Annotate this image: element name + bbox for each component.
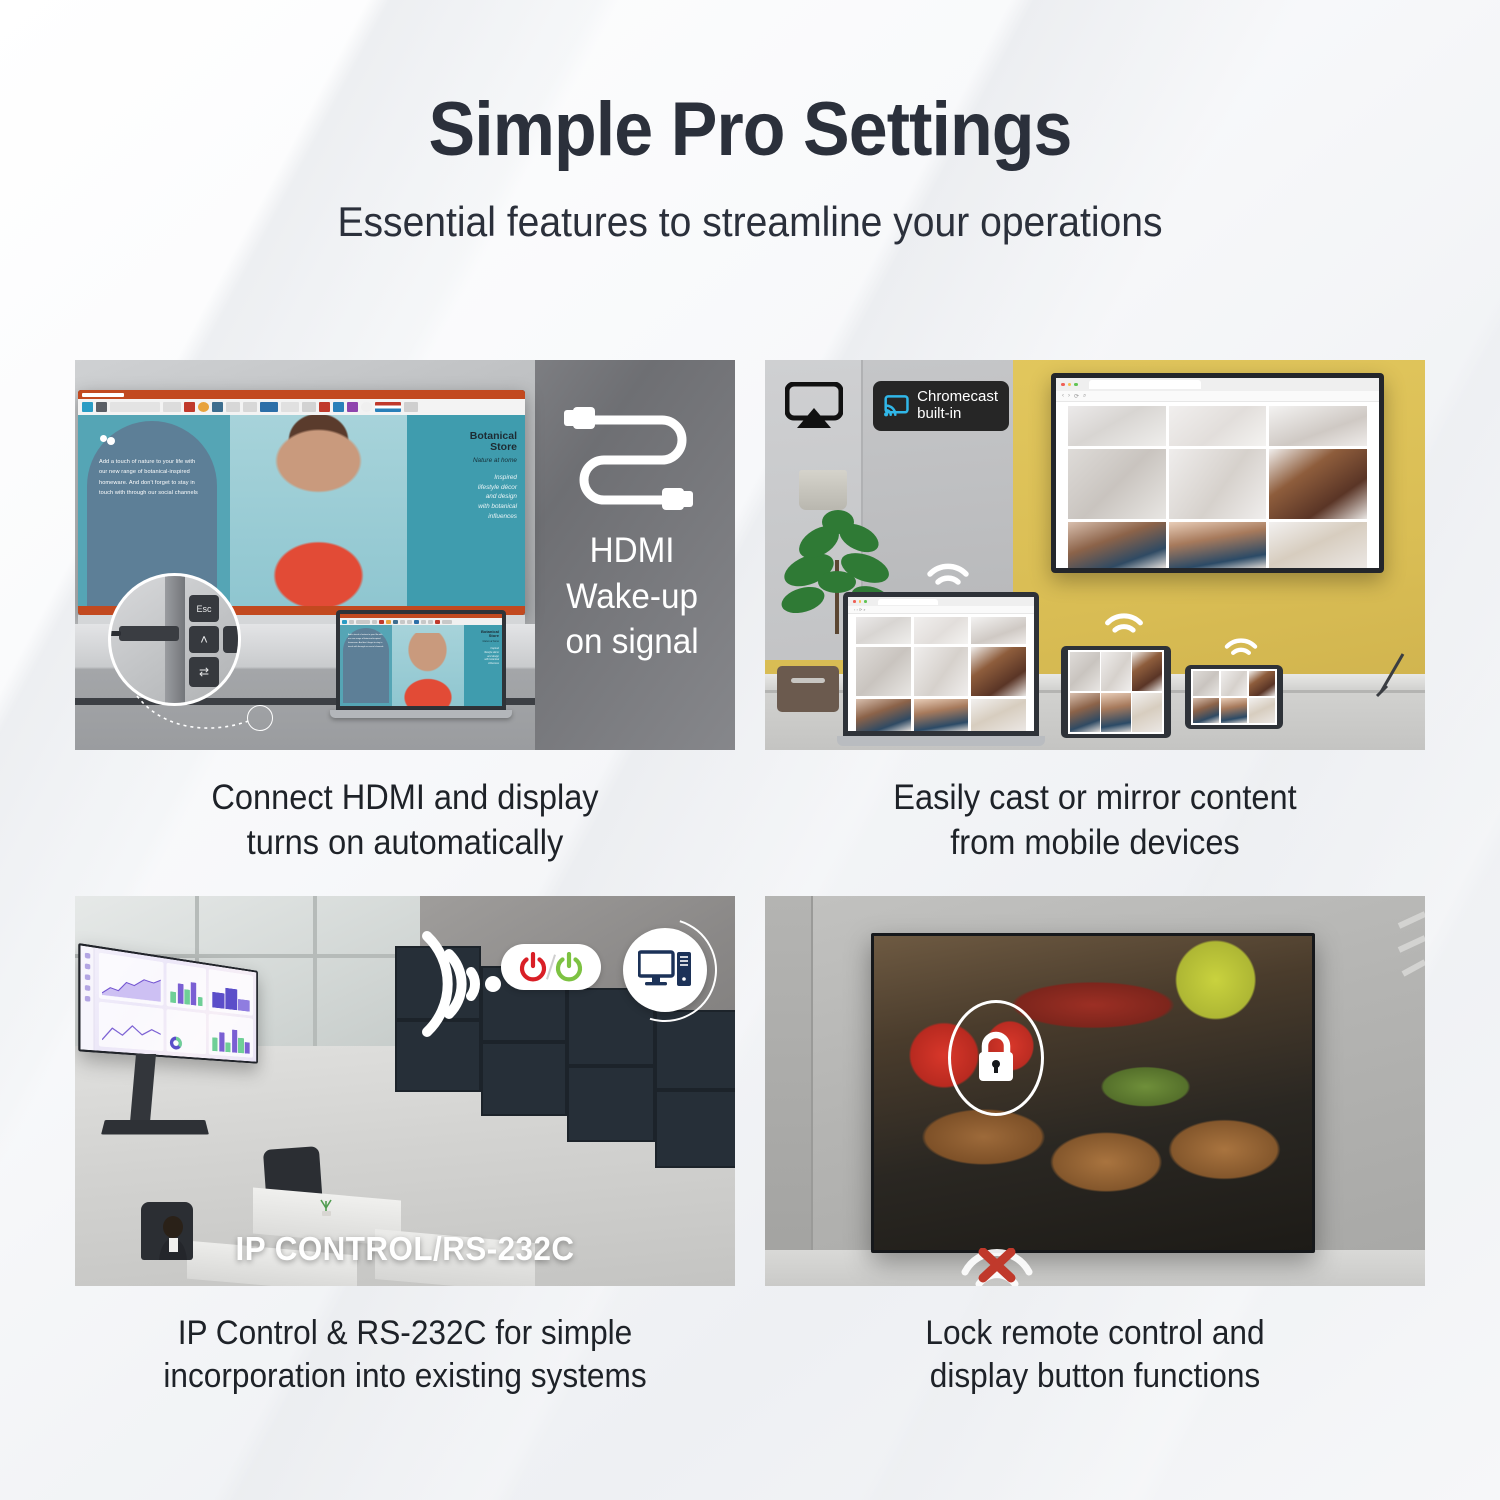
cast-scene-image: Chromecast built-in: [765, 360, 1425, 750]
feature-card-lock-remote: Lock remote control and display button f…: [765, 896, 1425, 1399]
lock-scene-image: [765, 896, 1425, 1286]
laptop-screen: Add a touch of nature to your life with …: [340, 614, 502, 706]
grid-image: [1269, 406, 1367, 446]
ribbon-icon-textbox[interactable]: [281, 402, 299, 412]
slide-heading: Botanical Store: [411, 431, 517, 453]
ribbon-icon-clipboard[interactable]: [96, 402, 107, 412]
feature-card-hdmi-wake-up: Add a touch of nature to your life with …: [75, 360, 735, 866]
slide-tagline: Nature at home: [411, 457, 517, 464]
browser-tab[interactable]: [1089, 380, 1201, 389]
dashboard-card-bargroup: [209, 1013, 253, 1057]
dashboard-card-kpi: [209, 969, 253, 1015]
wall-tv: ‹ › ⟳ ⌕: [1051, 373, 1384, 573]
grid-image: [1169, 406, 1267, 446]
browser-navbar: ‹ › ⟳ ⌕: [1056, 391, 1379, 402]
wifi-signal-icon: [925, 556, 971, 588]
dashboard-card-line: [99, 1001, 164, 1051]
sidebar-icon[interactable]: [84, 963, 89, 969]
people-icon: [99, 435, 116, 448]
hdmi-scene-image: Add a touch of nature to your life with …: [75, 360, 735, 750]
window-close-dot[interactable]: [1061, 383, 1065, 387]
grid-image: [1068, 449, 1166, 519]
laptop-slide-italic: Inspired lifestyle décor and design with…: [466, 647, 499, 665]
power-off-icon: [518, 952, 548, 982]
slide-italic-text: Inspired lifestyle décor and design with…: [411, 473, 517, 521]
search-icon[interactable]: ⌕: [1083, 393, 1086, 400]
tv-browser-window: ‹ › ⟳ ⌕: [1056, 378, 1379, 568]
desk-plant: [318, 1196, 335, 1216]
app-ribbon-toolbar: [78, 399, 525, 415]
grid-image: [1169, 522, 1267, 568]
grid-image: [1068, 406, 1166, 446]
reload-icon[interactable]: ⟳: [1074, 393, 1079, 400]
sidebar-icon[interactable]: [84, 974, 89, 980]
window-minimize-dot[interactable]: [1068, 383, 1072, 387]
ribbon-icon-palette[interactable]: [375, 402, 401, 412]
grid-image: [1269, 449, 1367, 519]
wifi-signal-icon: [1223, 632, 1259, 658]
ribbon-icon-pie[interactable]: [198, 402, 209, 412]
forward-icon[interactable]: ›: [1068, 393, 1070, 399]
feature-caption-hdmi: Connect HDMI and display turns on automa…: [98, 776, 712, 866]
ribbon-icon-image[interactable]: [260, 402, 278, 412]
ribbon-icon-align[interactable]: [163, 402, 181, 412]
ribbon-icon-refresh[interactable]: [361, 402, 372, 412]
chair: [777, 666, 839, 712]
dashboard-card-bars: [167, 962, 207, 1009]
feature-card-cast-mirror: Chromecast built-in: [765, 360, 1425, 866]
laptop-base: [837, 736, 1045, 746]
wall-tv: [871, 933, 1315, 1253]
window-maximize-dot[interactable]: [1074, 383, 1078, 387]
wifi-blocked-icon: [957, 1248, 1037, 1286]
laptop-device: Add a touch of nature to your life with …: [330, 610, 512, 718]
hdmi-port-magnifier: Esc ˄ ⇄: [108, 573, 241, 706]
laptop-screen: ‹ › ⟳ ⌕: [848, 597, 1034, 731]
airplay-icon: [785, 382, 843, 430]
power-on-icon: [554, 952, 584, 982]
chromecast-label: Chromecast built-in: [917, 389, 998, 423]
floor: [765, 1250, 1425, 1286]
dashboard-card-donut: [167, 1008, 207, 1054]
dashboard-card-area-chart: [99, 952, 164, 1005]
ribbon-icon-pdf[interactable]: [319, 402, 330, 412]
chromecast-badge: Chromecast built-in: [873, 381, 1009, 431]
ip-control-scene-image: IP CONTROL/RS-232C: [75, 896, 735, 1286]
hdmi-overlay: HDMI Wake-up on signal: [530, 360, 735, 750]
laptop-device: ‹ › ⟳ ⌕: [837, 592, 1045, 750]
ribbon-icon-link[interactable]: [333, 402, 344, 412]
dashboard-sidebar: [80, 945, 94, 1050]
key-blank: [223, 626, 241, 653]
ribbon-icon-paste[interactable]: [82, 402, 93, 412]
product-image-grid: [1056, 402, 1379, 568]
slide-right-column: Botanical Store Nature at home Inspired …: [407, 415, 525, 606]
page-subtitle: Essential features to streamline your op…: [53, 198, 1448, 246]
magnifier-source-ring: [247, 705, 273, 731]
grid-image: [1269, 522, 1367, 568]
sidebar-icon[interactable]: [84, 995, 89, 1001]
power-on-off-pill-icon: [501, 944, 601, 990]
wall-column: [765, 896, 813, 1286]
sidebar-icon[interactable]: [84, 952, 89, 958]
chromecast-icon: [884, 393, 909, 419]
ribbon-icon-shapes[interactable]: [226, 402, 240, 412]
tablet-device: [1061, 646, 1171, 738]
feature-caption-cast: Easily cast or mirror content from mobil…: [788, 776, 1402, 866]
wifi-signal-icon: [1103, 606, 1145, 636]
grid-image: [1169, 449, 1267, 519]
feature-caption-ip-control: IP Control & RS-232C for simple incorpor…: [98, 1312, 712, 1399]
lock-icon: [948, 1000, 1044, 1116]
key-esc: Esc: [189, 595, 219, 622]
stairs: [1355, 904, 1425, 984]
ribbon-icon-chart[interactable]: [184, 402, 195, 412]
scissors-tool: [1373, 652, 1407, 698]
phone-device: [1185, 665, 1283, 729]
feature-card-ip-control: IP CONTROL/RS-232C IP Control & RS-232C …: [75, 896, 735, 1399]
laptop-slide-body: Add a touch of nature to your life with …: [348, 634, 384, 650]
tv-food-content: [874, 936, 1312, 1250]
sidebar-icon[interactable]: [84, 985, 89, 991]
laptop-slide-heading: Botanical Store: [466, 630, 499, 638]
feature-grid: Add a touch of nature to your life with …: [75, 360, 1425, 1399]
ribbon-icon-hierarchy[interactable]: [212, 402, 223, 412]
monitor-pc-icon: [623, 928, 707, 1012]
tablet-screen: [1068, 650, 1164, 734]
laptop-lid: ‹ › ⟳ ⌕: [843, 592, 1039, 736]
key-tab: ⇄: [189, 657, 219, 687]
laptop-lid: Add a touch of nature to your life with …: [336, 610, 506, 710]
magnifier-leader-line: [135, 690, 255, 736]
app-title-bar: [78, 390, 525, 399]
feature-caption-lock-remote: Lock remote control and display button f…: [788, 1312, 1402, 1399]
page-title: Simple Pro Settings: [60, 92, 1440, 168]
hdmi-overlay-text: HDMI Wake-up on signal: [566, 528, 699, 665]
ribbon-icon-font[interactable]: [110, 402, 160, 412]
ribbon-icon-trend[interactable]: [404, 402, 418, 412]
laptop-slide-tagline: Nature at home: [466, 640, 499, 643]
ribbon-icon-table[interactable]: [302, 402, 316, 412]
phone-screen: [1191, 669, 1277, 725]
slide-canvas: Add a touch of nature to your life with …: [78, 415, 525, 606]
ribbon-icon-media[interactable]: [347, 402, 358, 412]
laptop-base: [330, 710, 512, 718]
plant-pot: [799, 470, 847, 510]
grid-image: [1068, 522, 1166, 568]
slide-photo: [230, 415, 407, 606]
wifi-signal-icon: [417, 924, 503, 1044]
browser-titlebar: [1056, 378, 1379, 391]
hdmi-cable-icon: [558, 398, 708, 514]
hdmi-plug-icon: [119, 626, 179, 641]
display-base: [101, 1120, 209, 1135]
back-icon[interactable]: ‹: [1062, 393, 1064, 399]
page-header: Simple Pro Settings Essential features t…: [0, 0, 1500, 246]
slide-body-text: Add a touch of nature to your life with …: [99, 457, 205, 498]
key-caret: ˄: [189, 626, 219, 653]
ribbon-icon-effects[interactable]: [243, 402, 257, 412]
ip-control-overlay-text: IP CONTROL/RS-232C: [92, 1230, 719, 1268]
